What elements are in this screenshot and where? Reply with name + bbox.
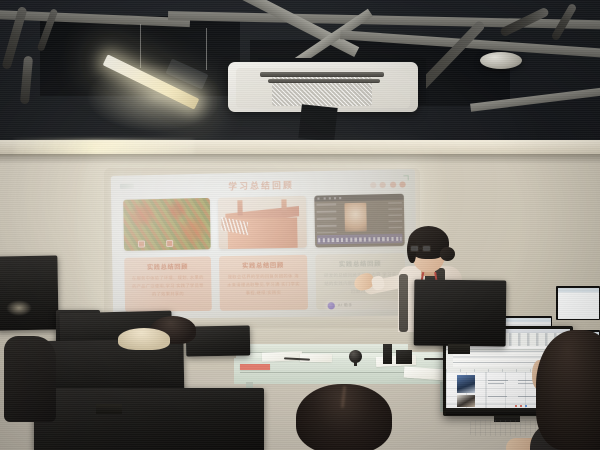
equipment-box xyxy=(383,344,392,364)
embedded-image-thumbnail[interactable] xyxy=(457,375,474,393)
classroom-photo: 学习总结回顾 xyxy=(0,0,600,450)
monitor-back xyxy=(34,388,264,450)
projection-screen: 学习总结回顾 xyxy=(111,169,418,319)
photo-pin-icon xyxy=(166,240,173,247)
ac-vane xyxy=(260,72,384,77)
slide-image-card-building xyxy=(218,196,307,249)
progress-dot xyxy=(399,181,405,187)
slide-text-card-heading: 实践总结回顾 xyxy=(130,262,205,272)
slide-image-card-foliage xyxy=(123,198,211,251)
cassette-ac-unit xyxy=(228,62,418,112)
progress-dot xyxy=(389,182,395,188)
monitor-stand xyxy=(448,344,470,354)
ai-assistant-icon xyxy=(328,302,335,309)
student-center xyxy=(296,384,392,450)
monitor-back xyxy=(0,255,59,330)
student-left-light-hair xyxy=(118,328,170,350)
student-right xyxy=(536,330,600,450)
monitor-back xyxy=(414,280,507,347)
embedded-image-thumbnail[interactable] xyxy=(457,395,474,408)
paper-sheet xyxy=(240,364,270,370)
ceiling-pipe xyxy=(20,56,33,105)
slide-text-card-body: 在服务中体验了环境、规划, 水果的的产品广泛使用,学习 实践了学员导的了效果共享… xyxy=(130,274,205,298)
slide-text-card: 实践总结回顾 我取会话界的型的回复务团的体 海水来清理选取整见,学习通 实门学实… xyxy=(219,255,308,311)
progress-dot xyxy=(379,182,385,188)
cable xyxy=(424,358,444,360)
slide-text-card: 实践总结回顾 在服务中体验了环境、规划, 水果的的产品广泛使用,学习 实践了学员… xyxy=(124,256,212,311)
background-monitor xyxy=(556,286,600,320)
equipment-box xyxy=(396,350,412,364)
ceiling xyxy=(0,0,600,152)
slide-text-card-body: 我取会话界的型的回复务团的体 海水来清理选取整见,学习通 实门学实事程,继续:实… xyxy=(225,272,301,297)
progress-dots xyxy=(370,181,406,188)
progress-dot xyxy=(370,182,376,188)
paper-sheet xyxy=(262,351,302,361)
slide-text-card-heading: 实践总结回顾 xyxy=(225,260,301,270)
glasses-icon xyxy=(410,245,433,252)
presenter-hair-bun xyxy=(440,247,455,261)
monitor-stand xyxy=(96,404,122,414)
ac-vane xyxy=(268,79,380,83)
ceiling-spotlight xyxy=(480,52,522,69)
slide-image-row xyxy=(123,194,405,251)
photo-pin-icon xyxy=(138,240,145,247)
ai-assistant-label: AI 助手 xyxy=(338,303,353,308)
backpack xyxy=(4,336,56,422)
